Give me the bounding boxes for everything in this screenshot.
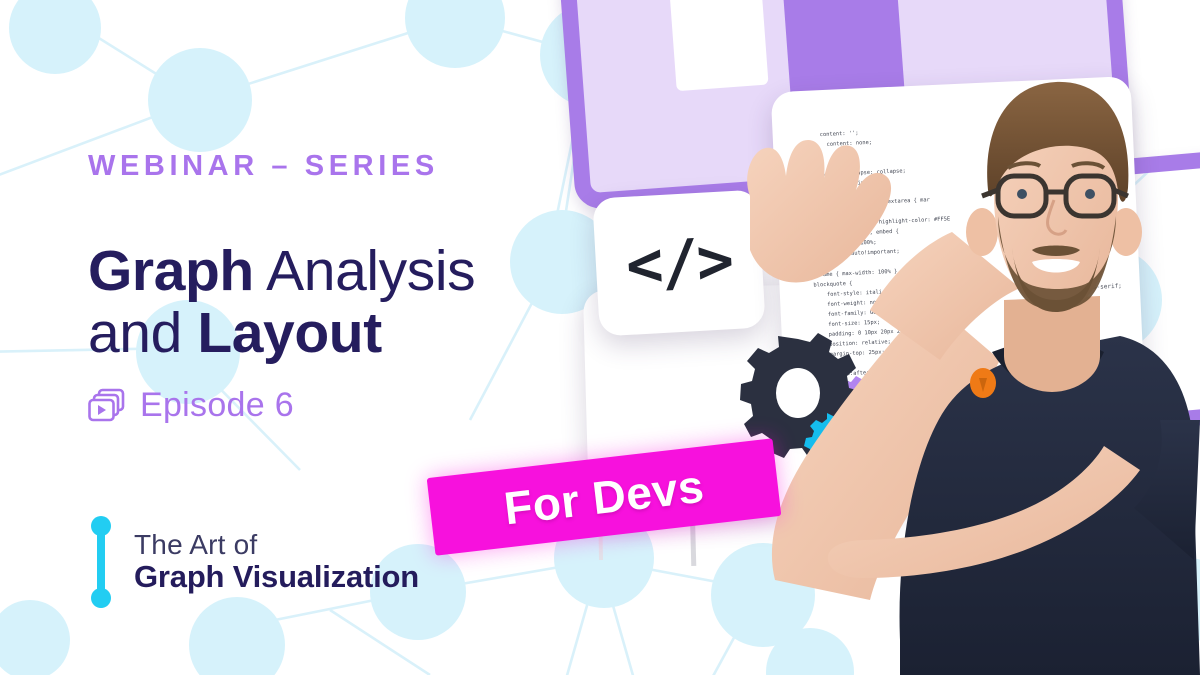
- title-word-analysis: Analysis: [254, 239, 475, 303]
- title-line-2: and Layout: [88, 303, 558, 365]
- episode-label: Episode 6: [140, 386, 294, 425]
- title-word-graph: Graph: [88, 239, 254, 303]
- webinar-series-kicker: WEBINAR – SERIES: [88, 150, 558, 183]
- logo-line-1: The Art of: [134, 529, 419, 560]
- hero-text-block: WEBINAR – SERIES Graph Analysis and Layo…: [88, 150, 558, 425]
- title-word-and: and: [88, 301, 197, 365]
- title-line-1: Graph Analysis: [88, 241, 558, 303]
- video-stack-icon: [88, 388, 126, 424]
- logo-line-2: Graph Visualization: [134, 560, 419, 595]
- webinar-title-slide: </> content: ''; content: none; } table …: [0, 0, 1200, 675]
- orange-lapel-pin: [970, 368, 996, 398]
- for-devs-label: For Devs: [501, 459, 707, 536]
- logo-text: The Art of Graph Visualization: [134, 529, 419, 595]
- page-title: Graph Analysis and Layout: [88, 241, 558, 364]
- title-word-layout: Layout: [197, 301, 381, 365]
- graph-edge-mark: [88, 516, 114, 608]
- presenter-photo: [600, 0, 1200, 675]
- brand-logo[interactable]: The Art of Graph Visualization: [88, 516, 419, 608]
- episode-badge: Episode 6: [88, 386, 558, 425]
